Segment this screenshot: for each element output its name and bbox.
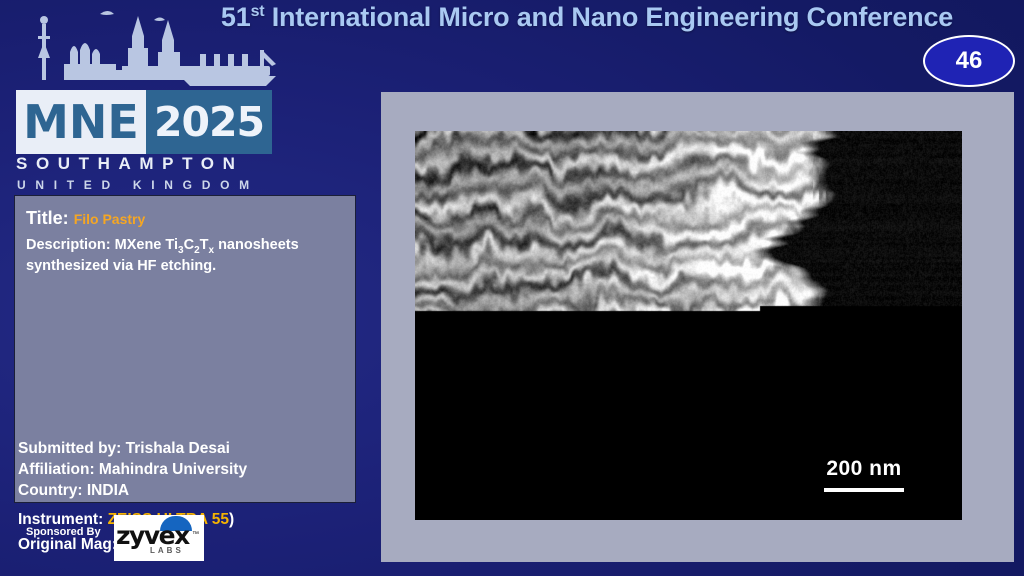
country-line: Country: INDIA: [18, 480, 247, 501]
southampton-skyline-icon: [14, 6, 278, 94]
logo-year-text: 2025: [146, 90, 272, 154]
page-title-rest: International Micro and Nano Engineering…: [264, 2, 953, 32]
image-frame: 200 nm: [381, 92, 1014, 562]
sem-micrograph: 200 nm: [415, 131, 962, 520]
conference-logo: MNE 2025 SOUTHAMPTON UNITED KINGDOM: [8, 6, 278, 191]
formula-part-2: C: [184, 237, 194, 253]
description-label: Description:: [26, 237, 111, 253]
logo-mne-text: MNE: [16, 90, 146, 154]
page-number-badge: 46: [923, 35, 1015, 87]
instrument-closing: ): [229, 511, 234, 528]
sponsor-sub-label: LABS: [150, 546, 184, 555]
scale-bar-label: 200 nm: [804, 457, 924, 481]
formula-part-1: MXene Ti: [115, 237, 178, 253]
logo-country-text: UNITED KINGDOM: [17, 178, 275, 192]
page-number-value: 46: [956, 47, 983, 75]
title-label: Title:: [26, 208, 69, 228]
scale-bar: 200 nm: [804, 457, 924, 492]
conference-slide: 51st International Micro and Nano Engine…: [0, 0, 1024, 576]
title-row: Title: Filo Pastry: [26, 207, 355, 230]
submitted-by-line: Submitted by: Trishala Desai: [18, 438, 247, 459]
affiliation-line: Affiliation: Mahindra University: [18, 459, 247, 480]
logo-city-text: SOUTHAMPTON: [16, 154, 274, 174]
sponsor-logo-zyvex: zyvex ™ LABS: [114, 515, 204, 561]
description-formula: MXene Ti3C2Tx: [115, 237, 218, 253]
formula-sub-3: x: [208, 244, 214, 255]
logo-wordmark: MNE 2025: [16, 90, 272, 154]
sponsor-trademark: ™: [192, 531, 199, 538]
scale-bar-line: [824, 488, 904, 492]
title-value: Filo Pastry: [74, 211, 146, 227]
sponsored-by-label: Sponsored By: [26, 526, 101, 538]
description-row: Description: MXene Ti3C2Tx nanosheets sy…: [26, 236, 351, 276]
submitter-block: Submitted by: Trishala Desai Affiliation…: [18, 438, 247, 501]
page-title: 51st International Micro and Nano Engine…: [150, 2, 1024, 33]
